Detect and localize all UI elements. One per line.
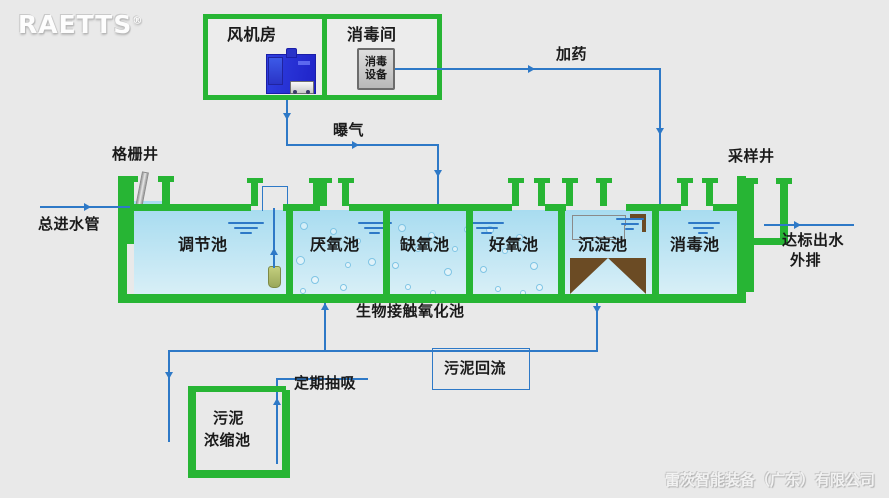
outlet-arrow	[794, 221, 801, 229]
aeration-pipe-down-2	[437, 144, 439, 210]
outlet-label-2: 外排	[790, 252, 821, 269]
process-flow-diagram: RAETTS® 风机房 消毒间 消毒 设备 加药 曝气 格栅井	[0, 0, 889, 498]
aeration-pipe-horizontal	[286, 144, 438, 146]
outlet-label-1: 达标出水	[782, 232, 844, 249]
tank-label-sedimentation: 沉淀池	[578, 236, 628, 254]
room-divider	[322, 14, 327, 100]
outlet-pipe	[764, 224, 854, 226]
registered-trademark-icon: ®	[132, 16, 143, 27]
sampling-well-cap-left	[742, 178, 758, 184]
tank-label-regulating: 调节池	[178, 236, 228, 254]
inlet-label: 总进水管	[38, 216, 100, 233]
deck-segment-6	[713, 204, 746, 211]
aeration-pipe-down-1	[286, 100, 288, 144]
sedimentation-sludge-right	[608, 258, 646, 294]
partition-anaerobic-anoxic	[383, 206, 390, 298]
partition-regulating-anaerobic	[286, 206, 293, 298]
disinfection-room-title: 消毒间	[347, 26, 397, 44]
thickener-floor	[188, 470, 290, 478]
partition-sedimentation-disinfection	[652, 206, 659, 298]
partition-anoxic-aerobic	[466, 206, 473, 298]
sludge-return-riser	[324, 303, 326, 351]
logo-text: RAETTS	[18, 10, 132, 39]
sedimentation-sludge-left	[570, 258, 608, 294]
sludge-to-thickener-arrow	[165, 372, 173, 379]
sampling-well-cap-right	[776, 178, 792, 184]
inlet-arrow	[84, 203, 91, 211]
grille-well-label: 格栅井	[112, 146, 159, 163]
sludge-return-label: 污泥回流	[444, 360, 506, 377]
aeration-label: 曝气	[333, 122, 364, 139]
tank-label-anaerobic: 厌氧池	[310, 236, 360, 254]
pump-riser-pipe	[273, 208, 275, 268]
settler-weir-side	[642, 214, 646, 232]
thickener-top-rim	[188, 386, 286, 392]
blower-room-title: 风机房	[227, 26, 277, 44]
tank-label-aerobic: 好氧池	[489, 236, 539, 254]
sludge-return-horizontal	[168, 350, 598, 352]
deck-segment-3	[349, 204, 512, 211]
blower-machine-icon	[258, 48, 318, 96]
thickener-left-wall	[188, 390, 196, 478]
dosing-pipe-vertical	[659, 68, 661, 208]
sampling-well-left-wall	[746, 182, 754, 292]
submersible-pump-icon	[268, 266, 281, 288]
pump-riser-arrow	[270, 248, 278, 255]
bio-contact-oxidation-label: 生物接触氧化池	[356, 303, 465, 320]
dosing-arrow-down	[656, 128, 664, 135]
periodic-suction-label: 定期抽吸	[294, 375, 356, 392]
disinfection-equipment-label-2: 设备	[365, 69, 387, 82]
grille-well-top-right-cap	[158, 176, 174, 182]
main-tank-right-wall	[737, 176, 746, 298]
tank-label-anoxic: 缺氧池	[400, 236, 450, 254]
thickener-right-wall	[282, 390, 290, 478]
sludge-return-riser-arrow	[321, 303, 329, 310]
sludge-to-thickener-pipe	[168, 350, 170, 442]
periodic-suction-arrow	[273, 398, 281, 405]
tank-label-disinfection: 消毒池	[670, 236, 720, 254]
main-tank-left-wall	[118, 176, 127, 298]
sampling-well-label: 采样井	[728, 148, 775, 165]
aeration-arrow-right	[352, 141, 359, 149]
aeration-arrow-down-2	[434, 170, 442, 177]
company-name: 雷茨智能装备（广东）有限公司	[665, 469, 875, 490]
disinfection-equipment: 消毒 设备	[357, 48, 395, 90]
dosing-arrow-right	[528, 65, 535, 73]
deck-segment-1	[127, 204, 251, 211]
sludge-return-drop-arrow	[593, 306, 601, 313]
thickener-label-1: 污泥	[213, 410, 244, 427]
thickener-label-2: 浓缩池	[204, 432, 251, 449]
partition-aerobic-sedimentation	[558, 206, 565, 298]
raetts-logo: RAETTS®	[18, 10, 143, 39]
aeration-arrow-down-1	[283, 113, 291, 120]
dosing-label: 加药	[556, 46, 587, 63]
